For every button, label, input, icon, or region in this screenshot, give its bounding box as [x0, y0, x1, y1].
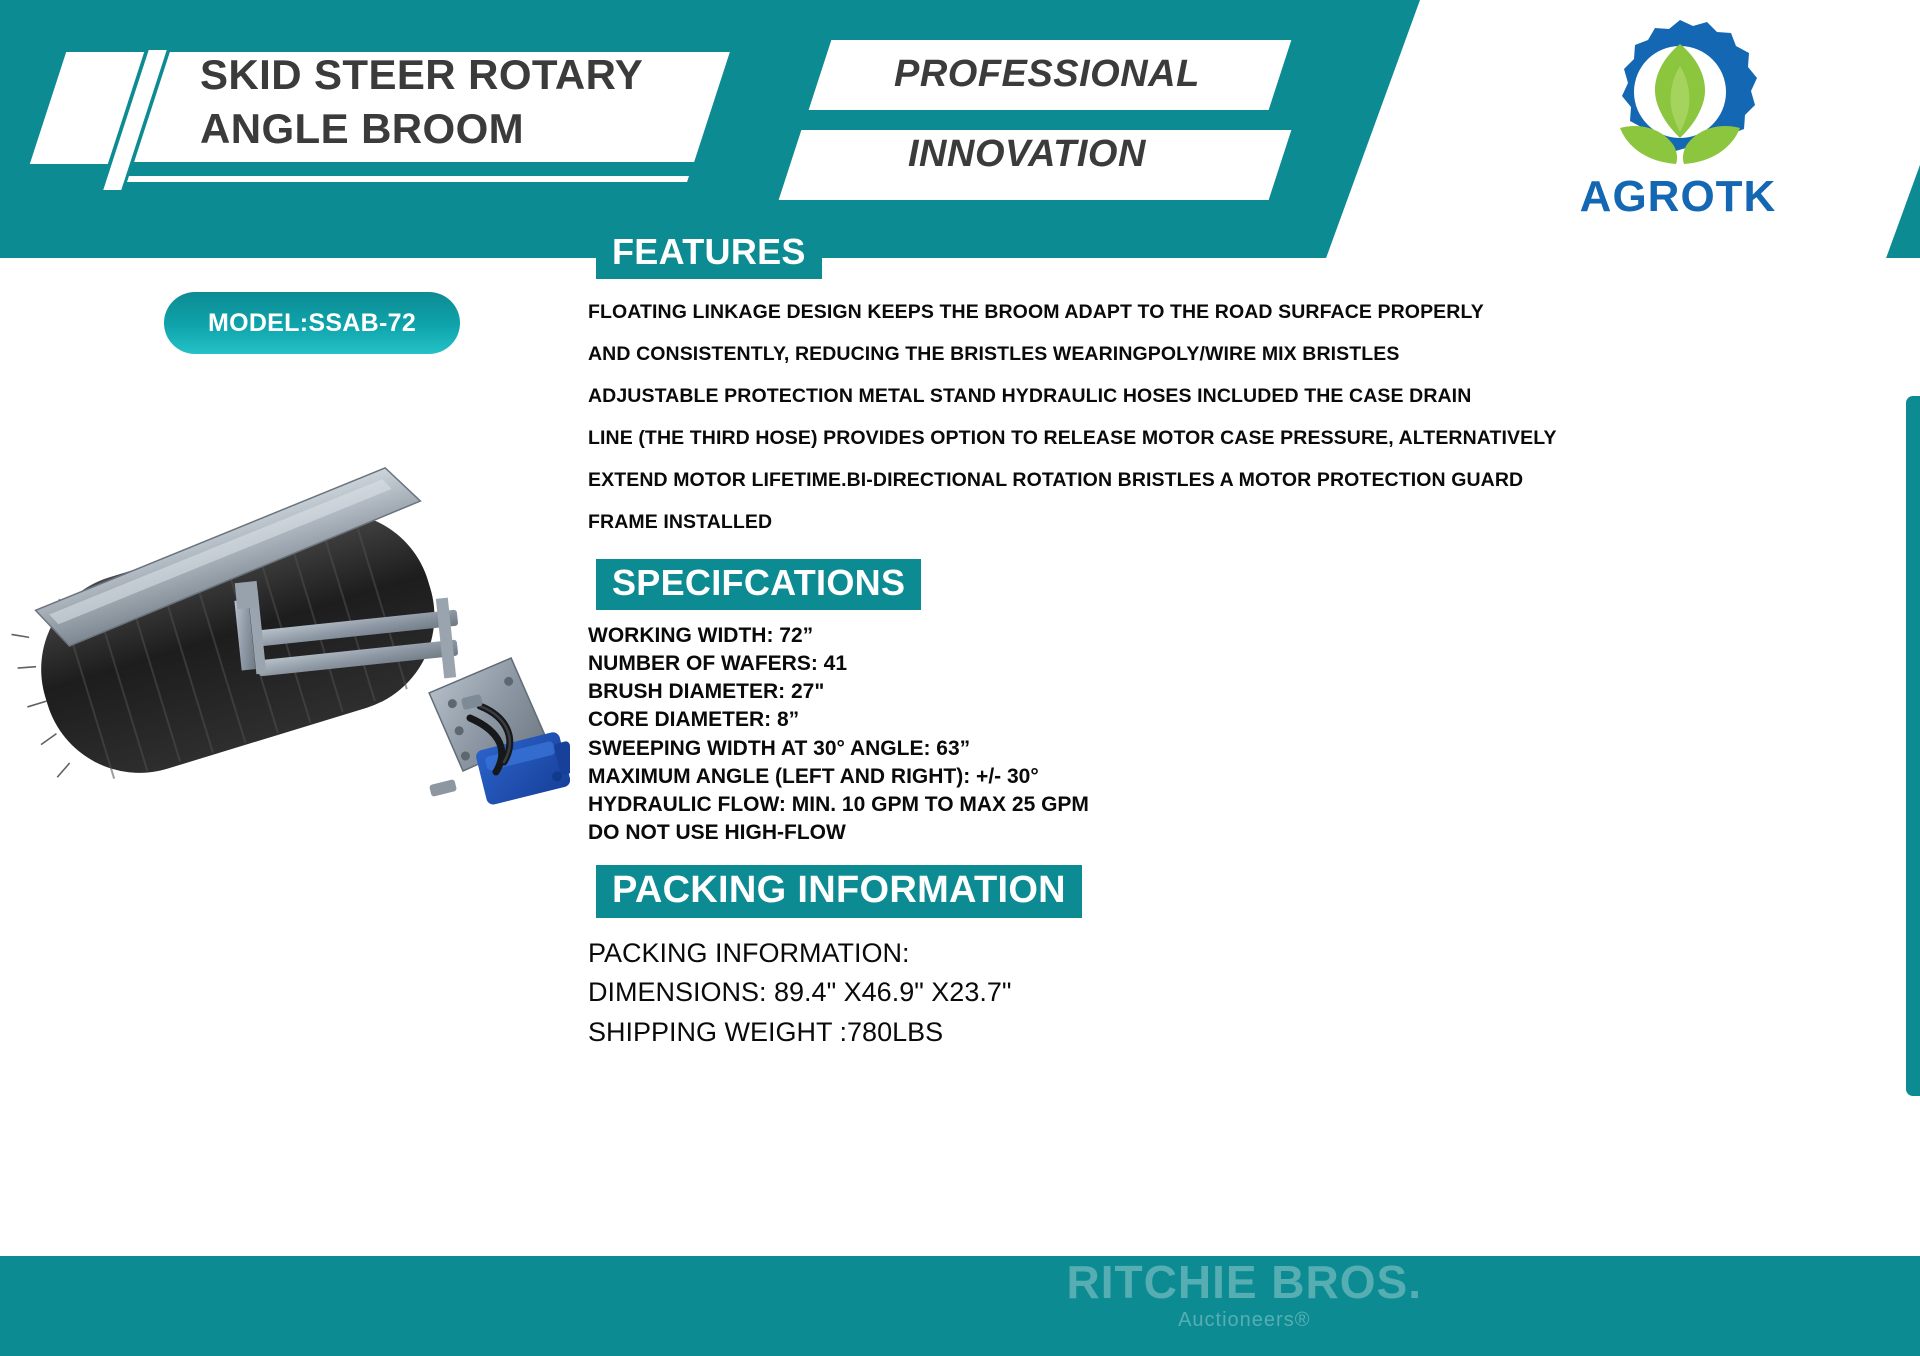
product-photo — [10, 450, 570, 850]
features-body: FLOATING LINKAGE DESIGN KEEPS THE BROOM … — [588, 301, 1548, 534]
spec-line: WORKING WIDTH: 72” — [588, 622, 1548, 650]
slogan-professional: PROFESSIONAL — [894, 53, 1200, 96]
specifications-heading: SPECIFCATIONS — [596, 559, 921, 610]
feature-line: FRAME INSTALLED — [588, 511, 1548, 534]
spec-line: NUMBER OF WAFERS: 41 — [588, 650, 1548, 678]
feature-line: ADJUSTABLE PROTECTION METAL STAND HYDRAU… — [588, 385, 1548, 408]
feature-line: EXTEND MOTOR LIFETIME.BI-DIRECTIONAL ROT… — [588, 469, 1548, 492]
packing-line: SHIPPING WEIGHT :780LBS — [588, 1013, 1548, 1052]
feature-line: AND CONSISTENTLY, REDUCING THE BRISTLES … — [588, 343, 1548, 366]
packing-information-body: PACKING INFORMATION: DIMENSIONS: 89.4" X… — [588, 934, 1548, 1052]
feature-line: LINE (THE THIRD HOSE) PROVIDES OPTION TO… — [588, 427, 1548, 450]
content-column: FEATURES FLOATING LINKAGE DESIGN KEEPS T… — [588, 228, 1548, 1052]
slogan-innovation: INNOVATION — [908, 133, 1146, 176]
right-edge-accent-tab — [1906, 396, 1920, 1096]
packing-information-heading: PACKING INFORMATION — [596, 865, 1082, 918]
packing-line: PACKING INFORMATION: — [588, 934, 1548, 973]
model-badge: MODEL:SSAB-72 — [164, 292, 460, 354]
spec-line: MAXIMUM ANGLE (LEFT AND RIGHT): +/- 30° — [588, 763, 1548, 791]
spec-line: CORE DIAMETER: 8” — [588, 706, 1548, 734]
spec-line: BRUSH DIAMETER: 27" — [588, 678, 1548, 706]
header-underline — [127, 176, 689, 182]
product-spec-sheet: SKID STEER ROTARY ANGLE BROOM PROFESSION… — [0, 0, 1920, 1356]
spec-line: DO NOT USE HIGH-FLOW — [588, 819, 1548, 847]
feature-line: FLOATING LINKAGE DESIGN KEEPS THE BROOM … — [588, 301, 1548, 324]
packing-line: DIMENSIONS: 89.4" X46.9" X23.7" — [588, 973, 1548, 1012]
page-header: SKID STEER ROTARY ANGLE BROOM PROFESSION… — [0, 0, 1920, 258]
features-heading: FEATURES — [596, 228, 822, 279]
page-footer — [0, 1256, 1920, 1356]
brand-logo: AGROTK — [1528, 14, 1828, 240]
specifications-body: WORKING WIDTH: 72” NUMBER OF WAFERS: 41 … — [588, 622, 1548, 847]
spec-line: HYDRAULIC FLOW: MIN. 10 GPM TO MAX 25 GP… — [588, 791, 1548, 819]
page-title: SKID STEER ROTARY ANGLE BROOM — [200, 48, 760, 156]
spec-line: SWEEPING WIDTH AT 30° ANGLE: 63” — [588, 735, 1548, 763]
gear-leaf-logo-icon — [1580, 14, 1780, 179]
brand-name: AGROTK — [1528, 172, 1828, 222]
